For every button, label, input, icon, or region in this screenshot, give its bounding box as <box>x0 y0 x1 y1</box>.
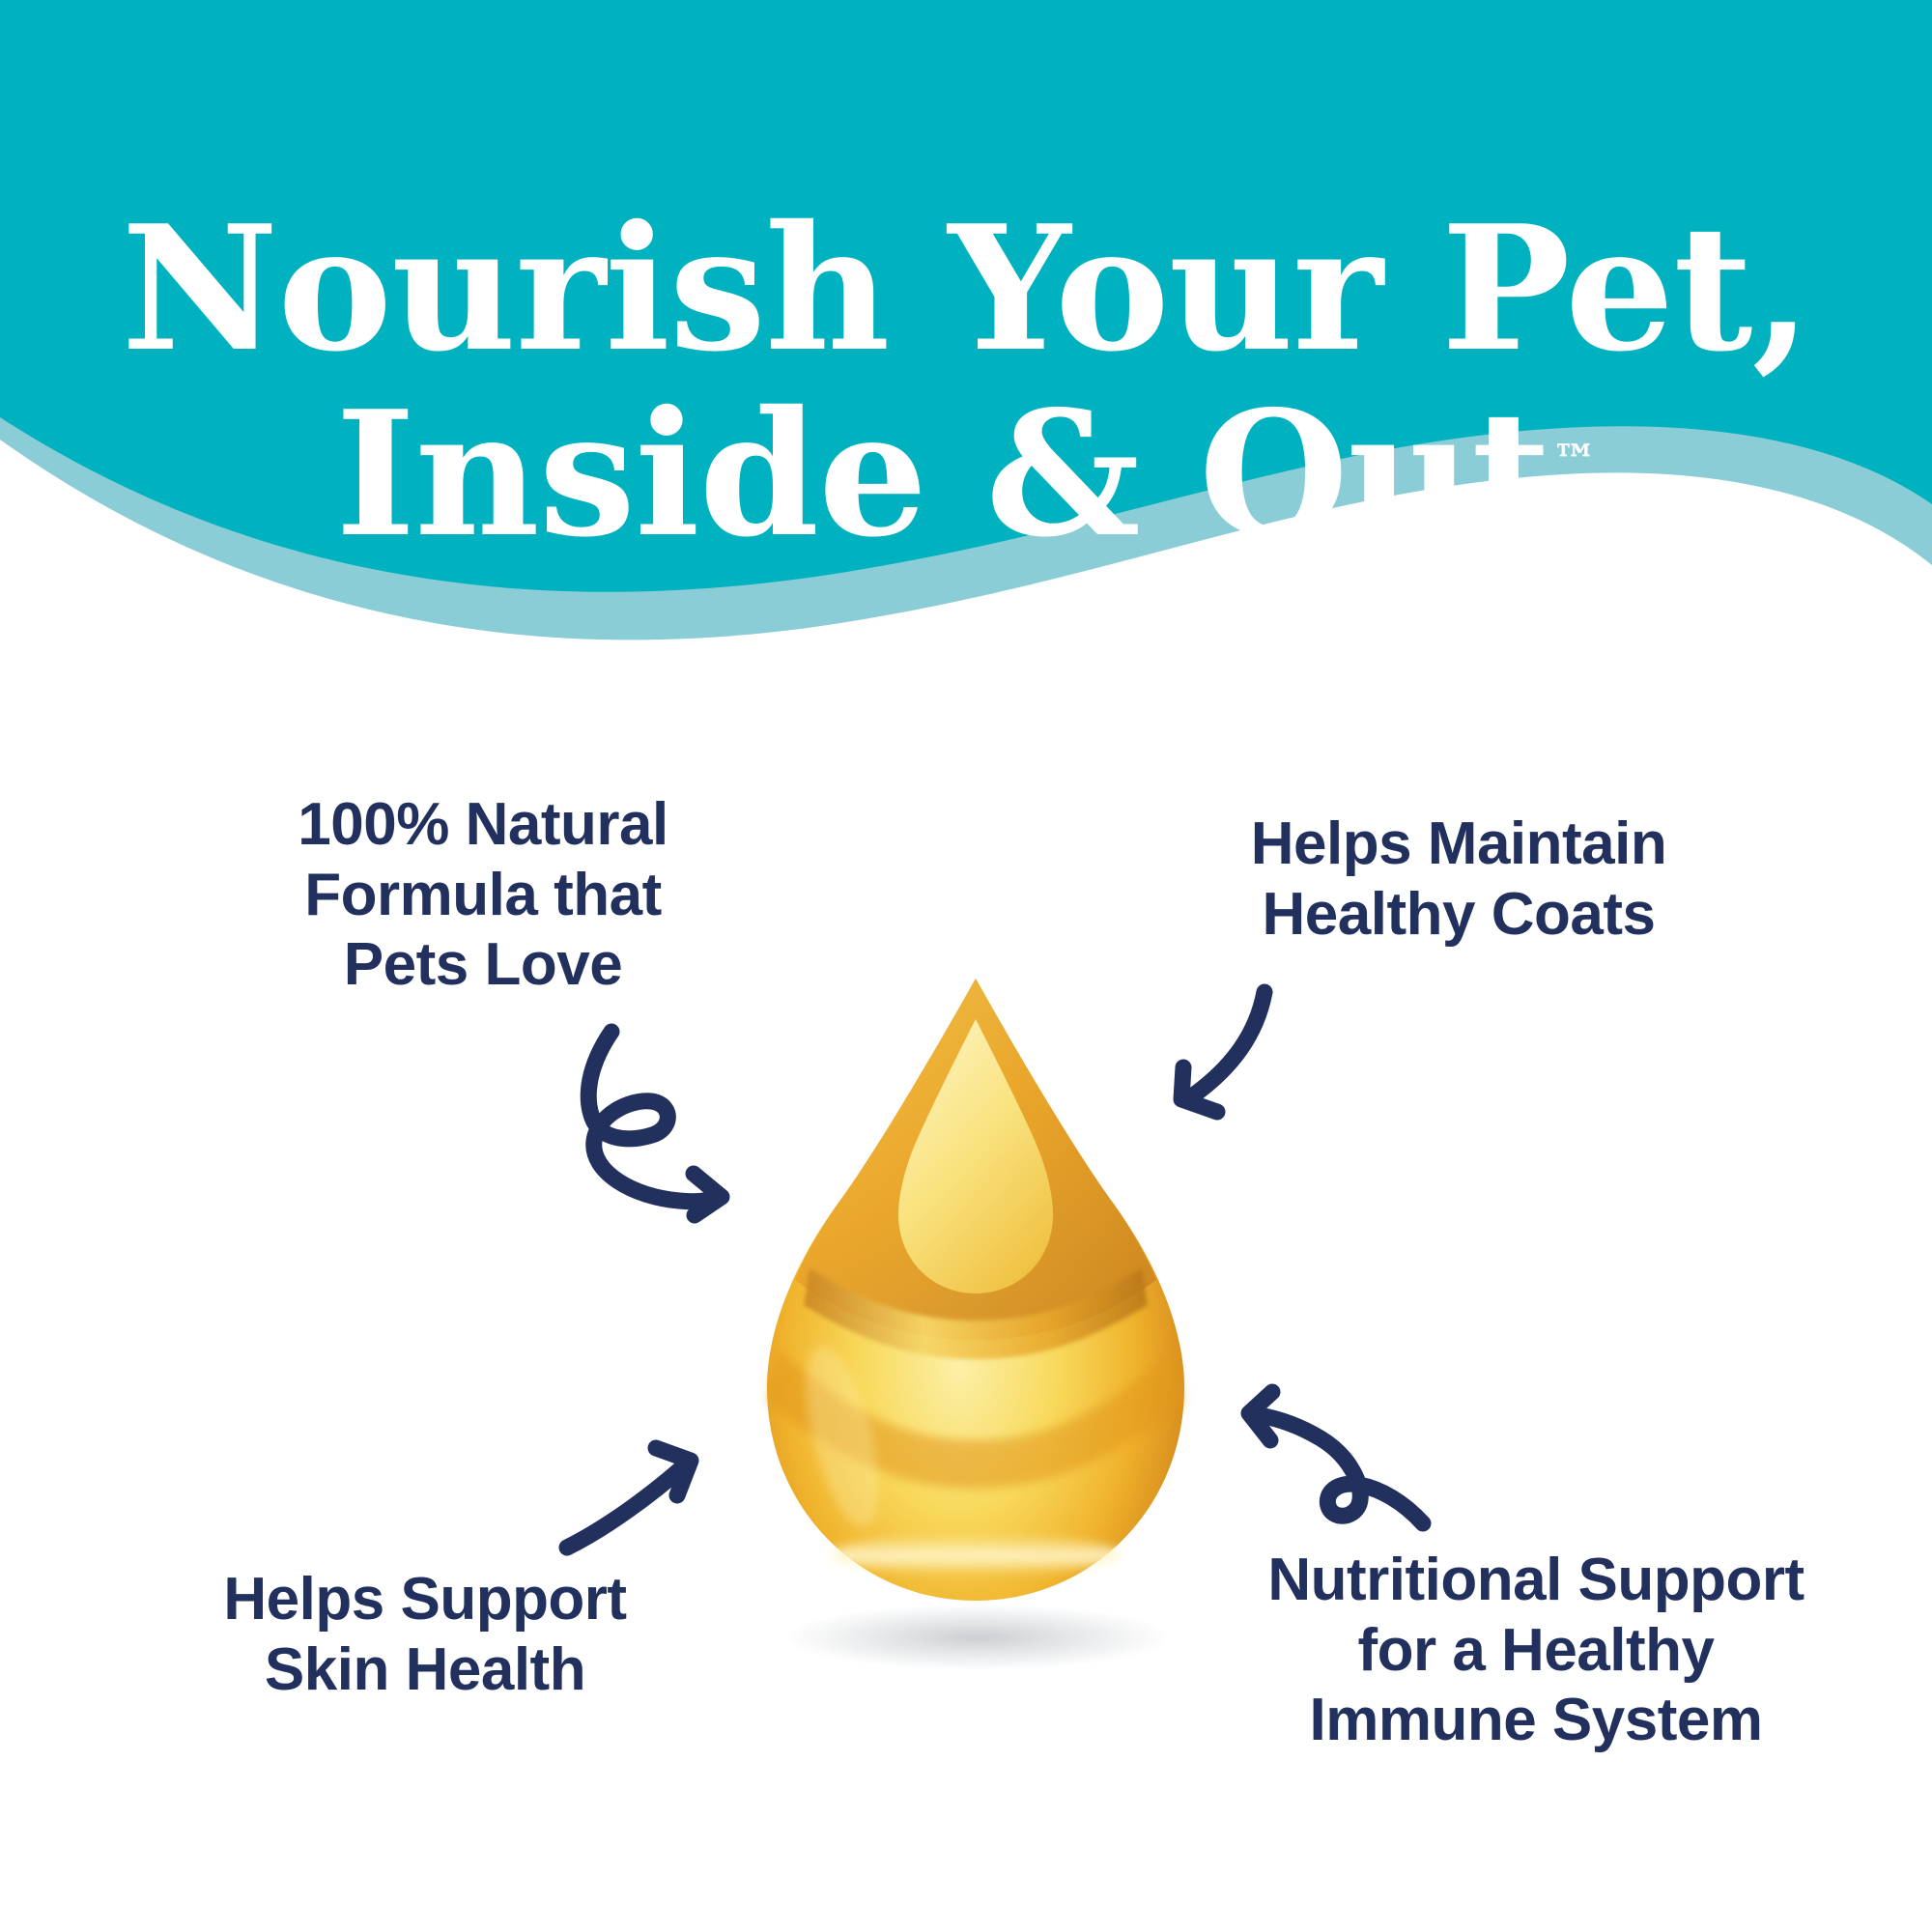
feature-immune-line-2: for a Healthy <box>1159 1616 1913 1687</box>
feature-label-immune: Nutritional Support for a Healthy Immune… <box>1159 1546 1913 1756</box>
feature-natural-line-3: Pets Love <box>135 930 831 1001</box>
header-band: Nourish Your Pet, Inside & Out™ <box>0 0 1932 676</box>
title-line-2-text: Inside & Out <box>335 373 1550 575</box>
title-line-2: Inside & Out™ <box>0 382 1932 567</box>
feature-coats-line-1: Helps Maintain <box>1101 810 1816 880</box>
feature-natural-line-1: 100% Natural <box>135 790 831 861</box>
infographic-page: Nourish Your Pet, Inside & Out™ <box>0 0 1932 1932</box>
arrow-skin-stroke <box>567 1463 687 1548</box>
feature-skin-line-1: Helps Support <box>77 1565 773 1635</box>
feature-immune-line-3: Immune System <box>1159 1686 1913 1756</box>
curved-arrow-down-left-icon <box>1145 971 1352 1150</box>
trademark-symbol: ™ <box>1552 435 1597 487</box>
feature-skin-line-2: Skin Health <box>77 1635 773 1706</box>
droplet-shadow <box>784 1605 1171 1670</box>
title-line-1: Nourish Your Pet, <box>0 196 1932 382</box>
page-title: Nourish Your Pet, Inside & Out™ <box>0 196 1932 567</box>
droplet-rim-glow <box>831 1533 1121 1576</box>
feature-natural-line-2: Formula that <box>135 861 831 931</box>
feature-label-natural: 100% Natural Formula that Pets Love <box>135 790 831 1001</box>
arrow-immune-stroke <box>1259 1415 1423 1523</box>
curly-arrow-right-down-icon <box>555 1019 782 1227</box>
droplet-inner-highlight <box>898 1019 1053 1293</box>
feature-immune-line-1: Nutritional Support <box>1159 1546 1913 1616</box>
arrow-coats-stroke <box>1189 992 1264 1098</box>
feature-coats-line-2: Healthy Coats <box>1101 880 1816 951</box>
feature-label-skin: Helps Support Skin Health <box>77 1565 773 1705</box>
feature-label-coats: Helps Maintain Healthy Coats <box>1101 810 1816 950</box>
